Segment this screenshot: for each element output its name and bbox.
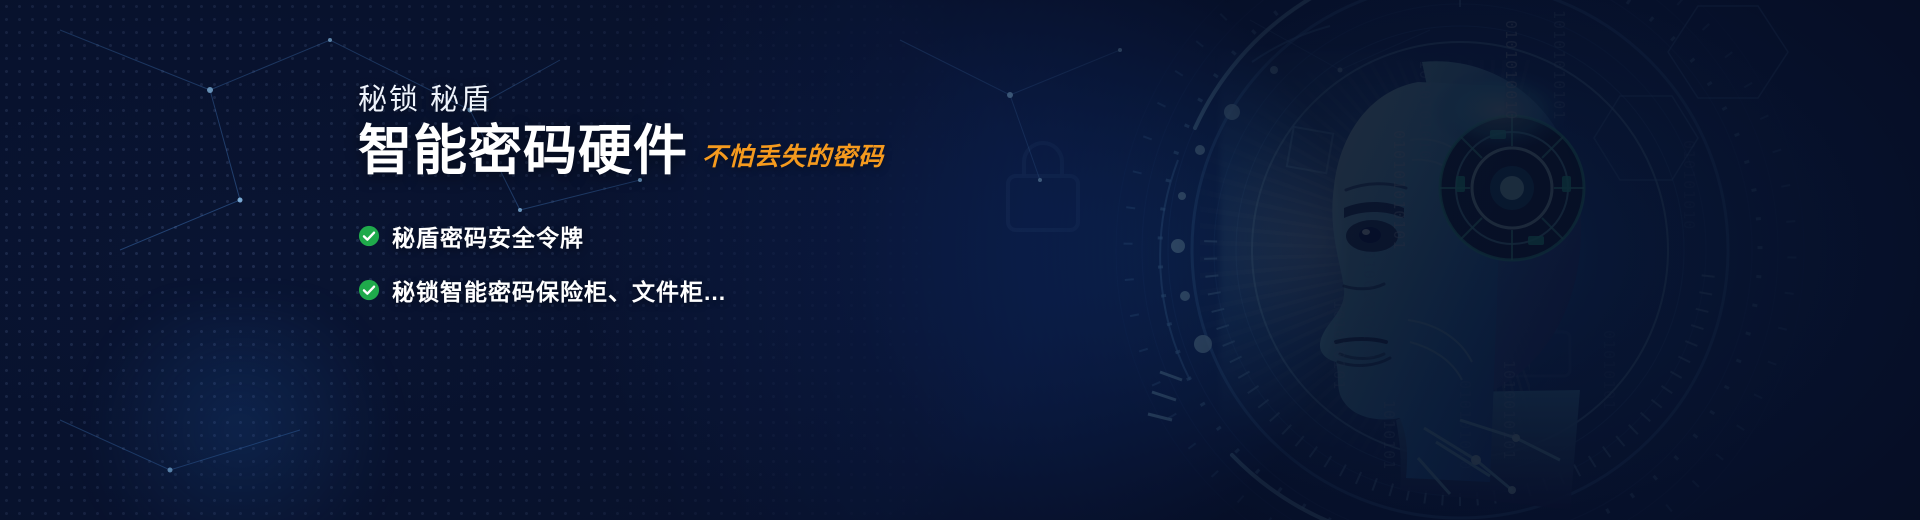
list-item-label: 秘盾密码安全令牌 [392,219,584,253]
hero-headline-sub: 不怕丢失的密码 [702,137,884,181]
check-circle-icon [358,279,380,301]
list-item[interactable]: 秘盾密码安全令牌 [358,219,918,253]
hero-kicker: 秘锁 秘盾 [358,82,918,118]
vignette-overlay [0,0,1920,520]
hero-banner: 010101010101 1010101010 01001010110 1010… [0,0,1920,520]
check-circle-icon [358,225,380,247]
list-item[interactable]: 秘锁智能密码保险柜、文件柜... [358,273,918,307]
list-item-label: 秘锁智能密码保险柜、文件柜... [392,273,726,307]
hero-headline: 智能密码硬件 [358,122,688,180]
hero-copy: 秘锁 秘盾 智能密码硬件 不怕丢失的密码 秘盾密码安全令牌 秘锁智能密码保险柜、… [358,82,918,307]
hero-bullet-list: 秘盾密码安全令牌 秘锁智能密码保险柜、文件柜... [358,219,918,307]
headline-row: 智能密码硬件 不怕丢失的密码 [358,122,918,180]
